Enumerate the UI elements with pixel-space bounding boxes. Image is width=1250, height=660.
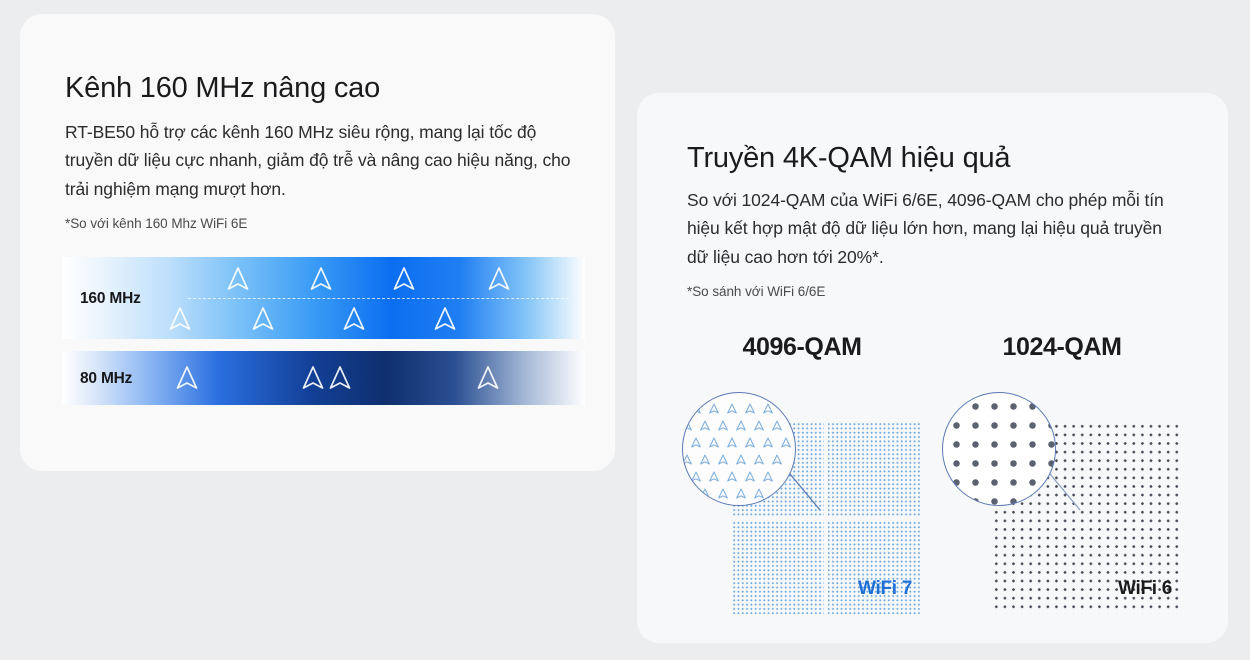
qam-4096-title: 4096-QAM [682, 333, 922, 362]
navigation-arrow-icon [308, 265, 334, 293]
page-canvas: Kênh 160 MHz nâng cao RT-BE50 hỗ trợ các… [0, 0, 1250, 660]
navigation-arrow-icon [250, 305, 276, 333]
band-160mhz: 160 MHz [62, 257, 585, 339]
navigation-arrow-icon [341, 305, 367, 333]
magnifier-circle-1024 [942, 392, 1056, 506]
navigation-arrow-icon [327, 364, 353, 392]
qam-1024-figure: WiFi 6 [942, 382, 1182, 618]
navigation-arrow-icon [391, 265, 417, 293]
card-160mhz-channel: Kênh 160 MHz nâng cao RT-BE50 hỗ trợ các… [20, 14, 615, 471]
right-card-title: Truyền 4K-QAM hiệu quả [687, 142, 1010, 175]
band-80mhz-label: 80 MHz [80, 370, 132, 388]
qam-panel-4096: 4096-QAM WiFi 7 [682, 333, 922, 618]
card-4k-qam: Truyền 4K-QAM hiệu quả So với 1024-QAM c… [637, 93, 1228, 643]
qam-4096-figure: WiFi 7 [682, 382, 922, 618]
grid-gap-horizontal [732, 516, 920, 520]
qam-panel-1024: 1024-QAM WiFi 6 [942, 333, 1182, 618]
navigation-arrow-icon [486, 265, 512, 293]
navigation-arrow-icon [174, 364, 200, 392]
qam-1024-title: 1024-QAM [942, 333, 1182, 362]
navigation-arrow-icon [475, 364, 501, 392]
bandwidth-comparison-graphic: 160 MHz 80 MHz [62, 257, 585, 405]
left-card-title: Kênh 160 MHz nâng cao [65, 72, 380, 105]
magnifier-circle-4096 [682, 392, 796, 506]
left-card-footnote: *So với kênh 160 Mhz WiFi 6E [65, 216, 247, 231]
navigation-arrow-icon [300, 364, 326, 392]
navigation-arrow-icon [225, 265, 251, 293]
navigation-arrow-icon [167, 305, 193, 333]
right-card-footnote: *So sánh với WiFi 6/6E [687, 284, 825, 299]
wifi7-badge: WiFi 7 [858, 578, 912, 600]
navigation-arrow-icon [432, 305, 458, 333]
wifi6-badge: WiFi 6 [1118, 578, 1172, 600]
band-divider-dashed [188, 298, 569, 299]
magnified-arrow-cluster [683, 393, 796, 506]
left-card-body: RT-BE50 hỗ trợ các kênh 160 MHz siêu rộn… [65, 118, 577, 203]
band-160mhz-label: 160 MHz [80, 290, 141, 308]
band-80mhz: 80 MHz [62, 351, 585, 405]
right-card-body: So với 1024-QAM của WiFi 6/6E, 4096-QAM … [687, 186, 1187, 271]
